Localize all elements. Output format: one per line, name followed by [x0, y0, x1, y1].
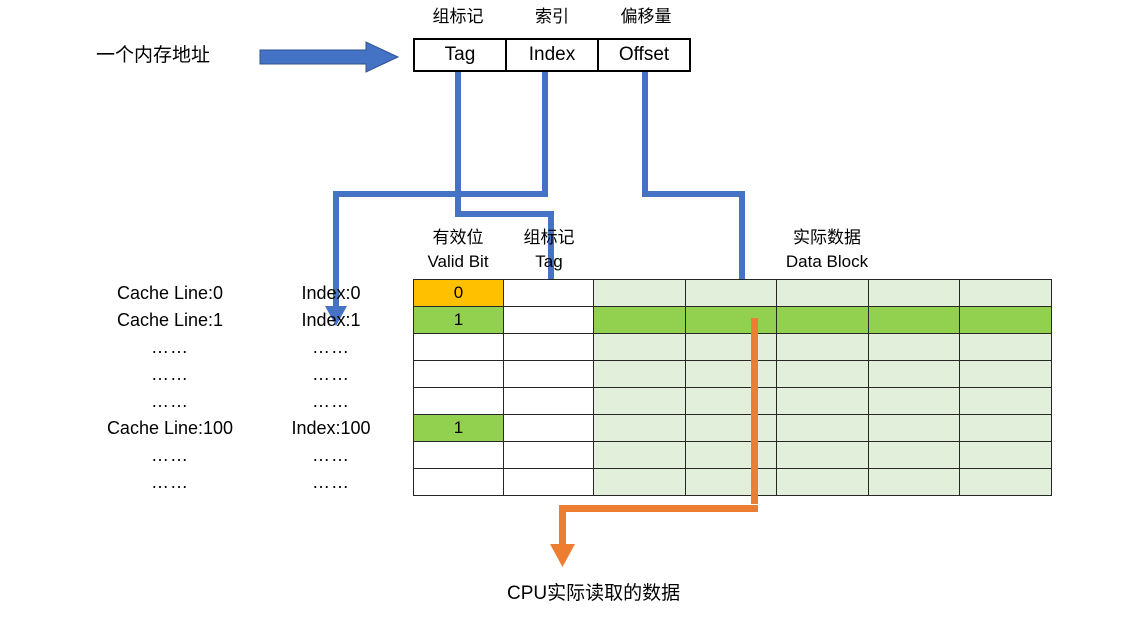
data-block-cell-1-0[interactable]	[594, 307, 686, 334]
cache-table: 011	[413, 279, 1052, 496]
data-block-cell-7-1[interactable]	[685, 469, 777, 496]
memory-address-box: Tag Index Offset	[413, 38, 691, 72]
data-block-cell-0-4[interactable]	[960, 280, 1052, 307]
data-block-cell-0-2[interactable]	[777, 280, 869, 307]
valid-bit-cell-5[interactable]: 1	[414, 415, 504, 442]
connector-output-arrowhead-icon	[550, 544, 575, 569]
cache-index-label-4: ……	[258, 388, 404, 415]
data-block-cell-6-1[interactable]	[685, 442, 777, 469]
address-caption-tag: 组标记	[413, 6, 503, 28]
table-row	[414, 442, 1052, 469]
data-block-cell-2-0[interactable]	[594, 334, 686, 361]
data-block-cell-4-4[interactable]	[960, 388, 1052, 415]
data-block-cell-7-0[interactable]	[594, 469, 686, 496]
cache-index-label-7: ……	[258, 469, 404, 496]
tag-cell-7[interactable]	[504, 469, 594, 496]
address-caption-index: 索引	[507, 6, 597, 28]
data-block-cell-3-0[interactable]	[594, 361, 686, 388]
column-caption-valid-en: Valid Bit	[413, 251, 503, 273]
tag-cell-6[interactable]	[504, 442, 594, 469]
address-field-offset[interactable]: Offset	[597, 40, 689, 70]
tag-cell-3[interactable]	[504, 361, 594, 388]
connector-index-vertical	[542, 72, 548, 197]
column-caption-data-en: Data Block	[735, 251, 919, 273]
connector-output-vertical-up	[751, 318, 758, 504]
data-block-cell-5-2[interactable]	[777, 415, 869, 442]
cache-index-label-3: ……	[258, 361, 404, 388]
data-block-cell-2-3[interactable]	[868, 334, 960, 361]
connector-offset-horizontal	[642, 191, 745, 197]
data-block-cell-0-0[interactable]	[594, 280, 686, 307]
column-caption-tag-cn: 组标记	[504, 227, 594, 249]
connector-tag-index-horizontal	[333, 191, 548, 197]
table-row: 0	[414, 280, 1052, 307]
table-row	[414, 361, 1052, 388]
address-caption-offset: 偏移量	[601, 6, 691, 28]
memory-address-source-label: 一个内存地址	[96, 45, 210, 67]
data-block-cell-6-0[interactable]	[594, 442, 686, 469]
valid-bit-cell-2[interactable]	[414, 334, 504, 361]
cache-line-label-1: Cache Line:1	[90, 307, 250, 334]
data-block-cell-1-1[interactable]	[685, 307, 777, 334]
data-block-cell-3-3[interactable]	[868, 361, 960, 388]
data-block-cell-4-0[interactable]	[594, 388, 686, 415]
cache-index-label-column: Index:0Index:1………………Index:100…………	[258, 280, 404, 496]
data-block-cell-2-2[interactable]	[777, 334, 869, 361]
table-row	[414, 334, 1052, 361]
cache-index-label-2: ……	[258, 334, 404, 361]
data-block-cell-1-2[interactable]	[777, 307, 869, 334]
data-block-cell-4-3[interactable]	[868, 388, 960, 415]
table-row	[414, 388, 1052, 415]
address-field-tag[interactable]: Tag	[415, 40, 505, 70]
valid-bit-cell-3[interactable]	[414, 361, 504, 388]
valid-bit-cell-4[interactable]	[414, 388, 504, 415]
data-block-cell-2-4[interactable]	[960, 334, 1052, 361]
cache-index-label-6: ……	[258, 442, 404, 469]
cache-index-label-0: Index:0	[258, 280, 404, 307]
valid-bit-cell-1[interactable]: 1	[414, 307, 504, 334]
connector-output-horizontal	[559, 505, 758, 512]
data-block-cell-6-4[interactable]	[960, 442, 1052, 469]
address-field-index[interactable]: Index	[505, 40, 597, 70]
cache-line-label-0: Cache Line:0	[90, 280, 250, 307]
data-block-cell-3-1[interactable]	[685, 361, 777, 388]
data-block-cell-7-2[interactable]	[777, 469, 869, 496]
connector-tag-vertical	[455, 72, 461, 197]
valid-bit-cell-0[interactable]: 0	[414, 280, 504, 307]
table-row: 1	[414, 415, 1052, 442]
tag-cell-5[interactable]	[504, 415, 594, 442]
valid-bit-cell-7[interactable]	[414, 469, 504, 496]
cache-address-mapping-diagram: 一个内存地址 组标记 索引 偏移量 Tag Index Offset	[0, 0, 1142, 638]
cache-line-label-column: Cache Line:0Cache Line:1………………Cache Line…	[90, 280, 250, 496]
tag-cell-1[interactable]	[504, 307, 594, 334]
data-block-cell-4-2[interactable]	[777, 388, 869, 415]
data-block-cell-2-1[interactable]	[685, 334, 777, 361]
cpu-read-data-label: CPU实际读取的数据	[507, 583, 680, 605]
column-caption-tag-en: Tag	[504, 251, 594, 273]
cache-line-label-4: ……	[90, 388, 250, 415]
cache-line-label-7: ……	[90, 469, 250, 496]
data-block-cell-7-3[interactable]	[868, 469, 960, 496]
data-block-cell-3-2[interactable]	[777, 361, 869, 388]
data-block-cell-1-3[interactable]	[868, 307, 960, 334]
connector-tag-elbow-horizontal	[455, 211, 554, 217]
tag-cell-4[interactable]	[504, 388, 594, 415]
data-block-cell-0-3[interactable]	[868, 280, 960, 307]
cache-index-label-5: Index:100	[258, 415, 404, 442]
data-block-cell-5-4[interactable]	[960, 415, 1052, 442]
block-right-arrow-icon	[260, 40, 400, 74]
column-caption-data-cn: 实际数据	[735, 227, 919, 249]
data-block-cell-0-1[interactable]	[685, 280, 777, 307]
column-caption-valid-cn: 有效位	[413, 227, 503, 249]
data-block-cell-7-4[interactable]	[960, 469, 1052, 496]
data-block-cell-3-4[interactable]	[960, 361, 1052, 388]
data-block-cell-5-3[interactable]	[868, 415, 960, 442]
tag-cell-0[interactable]	[504, 280, 594, 307]
valid-bit-cell-6[interactable]	[414, 442, 504, 469]
cache-index-label-1: Index:1	[258, 307, 404, 334]
connector-offset-vertical	[642, 72, 648, 197]
data-block-cell-4-1[interactable]	[685, 388, 777, 415]
cache-line-label-2: ……	[90, 334, 250, 361]
data-block-cell-6-2[interactable]	[777, 442, 869, 469]
data-block-cell-5-0[interactable]	[594, 415, 686, 442]
cache-line-label-3: ……	[90, 361, 250, 388]
cache-line-label-5: Cache Line:100	[90, 415, 250, 442]
tag-cell-2[interactable]	[504, 334, 594, 361]
data-block-cell-5-1[interactable]	[685, 415, 777, 442]
data-block-cell-6-3[interactable]	[868, 442, 960, 469]
data-block-cell-1-4[interactable]	[960, 307, 1052, 334]
table-row: 1	[414, 307, 1052, 334]
cache-line-label-6: ……	[90, 442, 250, 469]
table-row	[414, 469, 1052, 496]
